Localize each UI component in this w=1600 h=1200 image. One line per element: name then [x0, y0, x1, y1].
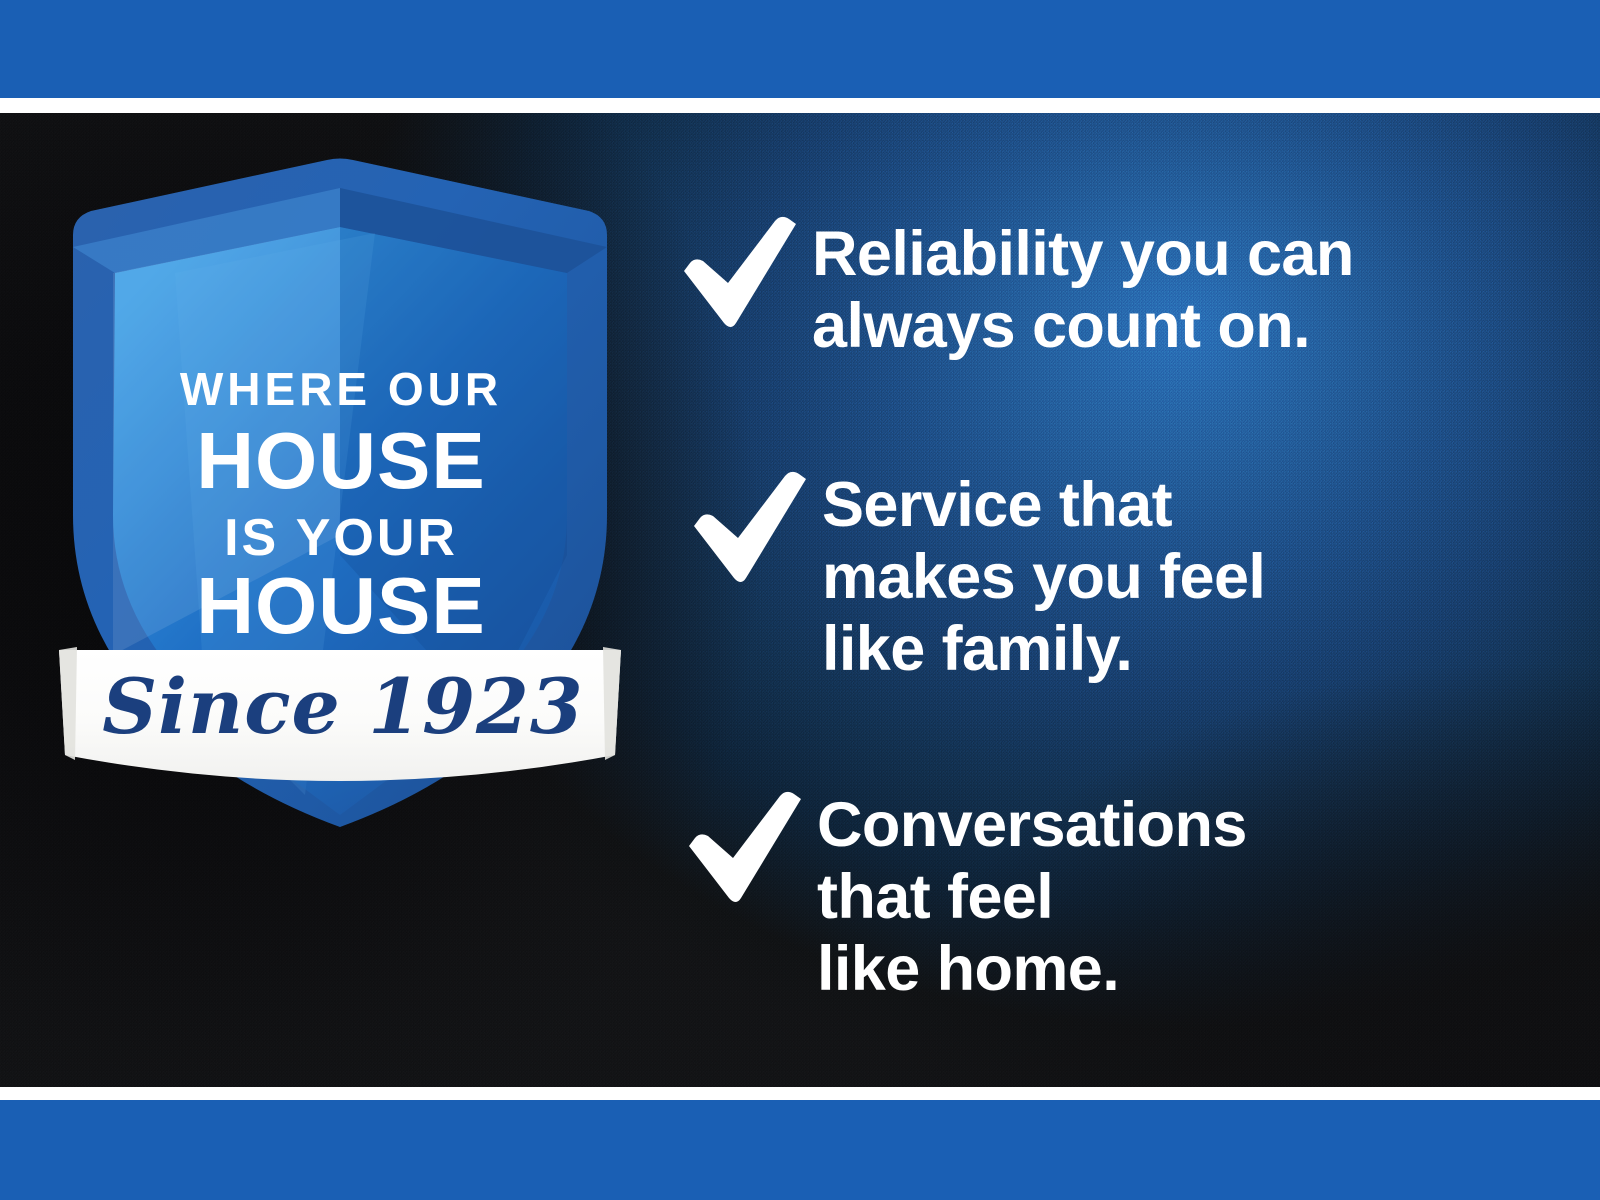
list-item: Conversations that feel like home.: [675, 788, 1247, 1005]
shield-line-4: HOUSE: [196, 561, 486, 650]
list-item-label: Service that makes you feel like family.: [822, 468, 1265, 685]
shield-line-2: HOUSE: [196, 416, 486, 505]
check-icon: [675, 788, 805, 908]
shield-line-3: IS YOUR: [224, 509, 458, 567]
shield-logo: WHERE OUR HOUSE IS YOUR HOUSE Since 1923: [55, 155, 625, 835]
shield-line-1: WHERE OUR: [180, 363, 502, 415]
top-white-divider: [0, 98, 1600, 113]
shield-banner-text: Since 1923: [102, 662, 584, 751]
check-icon: [680, 468, 810, 588]
list-item: Reliability you can always count on.: [670, 213, 1354, 363]
check-icon: [670, 213, 800, 333]
bottom-brand-bar: [0, 1100, 1600, 1200]
list-item-label: Reliability you can always count on.: [812, 213, 1354, 363]
top-brand-bar: [0, 0, 1600, 98]
promo-graphic: WHERE OUR HOUSE IS YOUR HOUSE Since 1923…: [0, 0, 1600, 1200]
shield-banner: Since 1923: [59, 647, 621, 781]
bottom-white-divider: [0, 1087, 1600, 1100]
list-item: Service that makes you feel like family.: [680, 468, 1265, 685]
list-item-label: Conversations that feel like home.: [817, 788, 1247, 1005]
benefits-list: Reliability you can always count on. Ser…: [670, 113, 1570, 1087]
